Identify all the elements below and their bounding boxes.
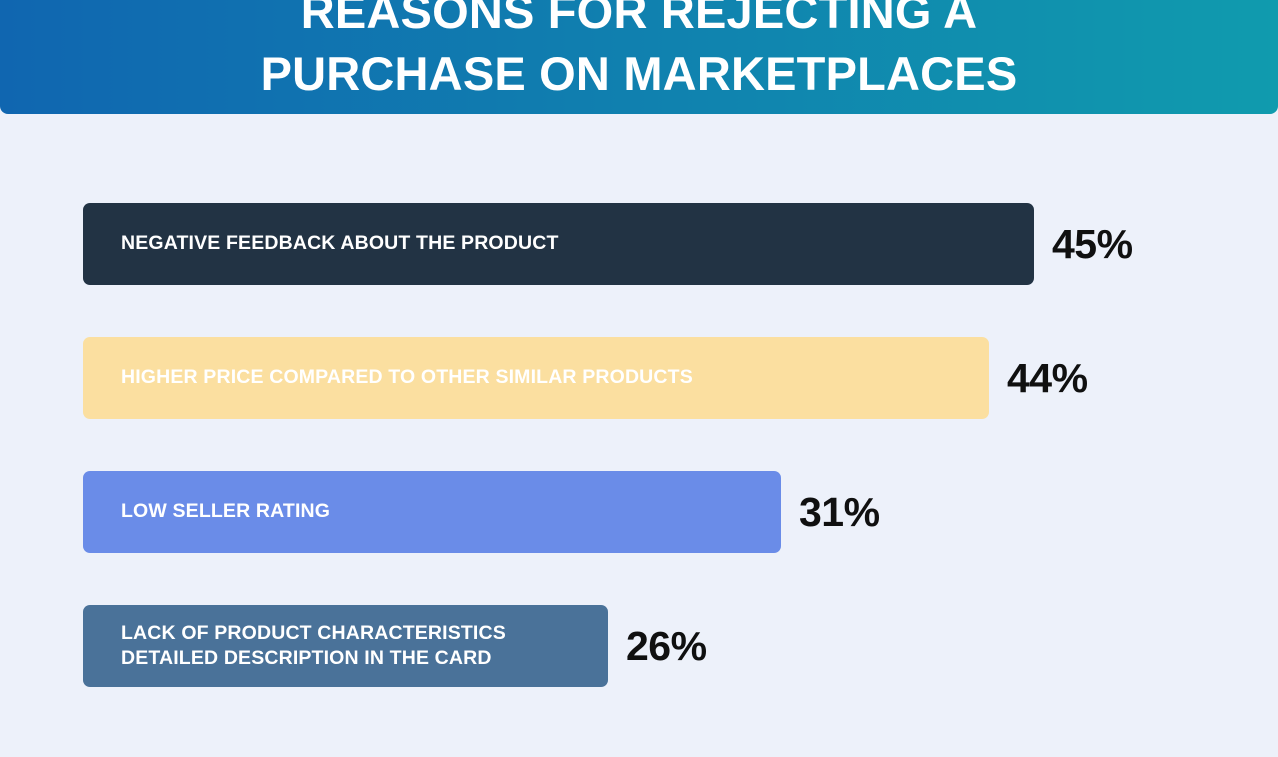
bar-label-1: HIGHER PRICE COMPARED TO OTHER SIMILAR P… xyxy=(121,365,693,390)
header-banner: REASONS FOR REJECTING A PURCHASE ON MARK… xyxy=(0,0,1278,114)
infographic-root: REASONS FOR REJECTING A PURCHASE ON MARK… xyxy=(0,0,1278,757)
bar-row: LOW SELLER RATING 31% xyxy=(83,471,880,553)
bar-value-3: 26% xyxy=(626,623,707,670)
bar-chart: NEGATIVE FEEDBACK ABOUT THE PRODUCT 45% … xyxy=(0,114,1278,757)
page-title: REASONS FOR REJECTING A PURCHASE ON MARK… xyxy=(221,0,1058,105)
bar-row: LACK OF PRODUCT CHARACTERISTICS DETAILED… xyxy=(83,605,707,687)
bar-label-3: LACK OF PRODUCT CHARACTERISTICS DETAILED… xyxy=(121,621,506,672)
bar-segment-3: LACK OF PRODUCT CHARACTERISTICS DETAILED… xyxy=(83,605,608,687)
bar-segment-2: LOW SELLER RATING xyxy=(83,471,781,553)
bar-value-0: 45% xyxy=(1052,221,1133,268)
bar-label-2: LOW SELLER RATING xyxy=(121,499,330,524)
bar-label-0: NEGATIVE FEEDBACK ABOUT THE PRODUCT xyxy=(121,231,559,256)
bar-segment-1: HIGHER PRICE COMPARED TO OTHER SIMILAR P… xyxy=(83,337,989,419)
bar-value-2: 31% xyxy=(799,489,880,536)
bar-row: HIGHER PRICE COMPARED TO OTHER SIMILAR P… xyxy=(83,337,1088,419)
bar-row: NEGATIVE FEEDBACK ABOUT THE PRODUCT 45% xyxy=(83,203,1133,285)
bar-value-1: 44% xyxy=(1007,355,1088,402)
bar-segment-0: NEGATIVE FEEDBACK ABOUT THE PRODUCT xyxy=(83,203,1034,285)
